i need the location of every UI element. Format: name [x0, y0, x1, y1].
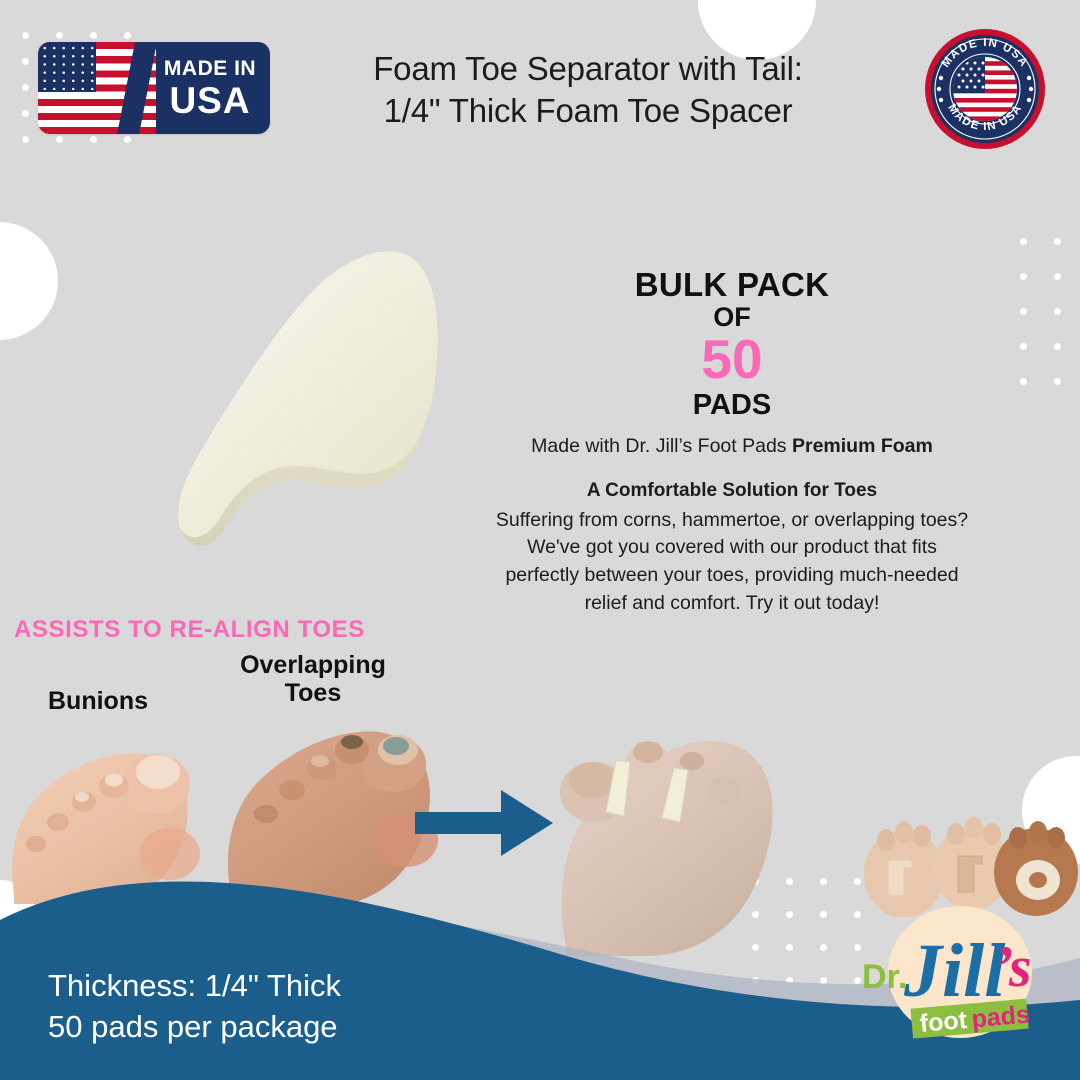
made-with-prefix: Made with Dr. Jill’s Foot Pads: [531, 435, 792, 457]
page-title-line2: 1/4" Thick Foam Toe Spacer: [282, 90, 894, 132]
label-bunions: Bunions: [48, 688, 148, 716]
made-with-line: Made with Dr. Jill’s Foot Pads Premium F…: [452, 435, 1012, 458]
bulk-line1: BULK PACK: [452, 268, 1012, 302]
flag-badge-line1: MADE IN: [164, 58, 256, 79]
info-column: BULK PACK OF 50 PADS Made with Dr. Jill’…: [452, 268, 1012, 617]
made-in-usa-seal-icon: MADE IN USA MADE IN USA: [924, 28, 1046, 150]
dot-grid-right: [1020, 238, 1080, 413]
realign-heading: ASSISTS TO RE-ALIGN TOES: [14, 616, 365, 644]
logo-jill-text: Jill: [903, 929, 1005, 1013]
description-line4: relief and comfort. Try it out today!: [452, 590, 1012, 618]
bulk-pack-callout: BULK PACK OF 50 PADS: [452, 268, 1012, 421]
us-flag-icon: [38, 42, 156, 134]
comfort-sub-heading: A Comfortable Solution for Toes: [452, 480, 1012, 502]
description-line3: perfectly between your toes, providing m…: [452, 562, 1012, 590]
description-line1: Suffering from corns, hammertoe, or over…: [452, 507, 1012, 535]
logo-pads-text: pads: [970, 1000, 1031, 1033]
logo-dr-text: Dr.: [862, 958, 907, 996]
dr-jills-foot-pads-logo: Dr. Jill ’s foot pads: [856, 900, 1056, 1065]
right-arrow-icon: [415, 786, 555, 860]
flag-badge-line2: USA: [169, 82, 250, 119]
description-line2: We've got you covered with our product t…: [452, 534, 1012, 562]
logo-apostrophe-s: ’s: [994, 934, 1032, 999]
bulk-line4: PADS: [452, 391, 1012, 421]
decorative-circle-left: [0, 222, 58, 340]
made-with-bold: Premium Foam: [792, 435, 933, 457]
made-in-usa-flag-badge: MADE IN USA: [38, 42, 270, 134]
logo-foot-text: foot: [919, 1006, 969, 1038]
bulk-line2: OF: [452, 304, 1012, 332]
label-overlapping-line1: Overlapping: [228, 652, 398, 680]
page-title: Foam Toe Separator with Tail: 1/4" Thick…: [282, 48, 894, 132]
banner-line1: Thickness: 1/4" Thick: [48, 966, 341, 1007]
bulk-count: 50: [452, 331, 1012, 389]
bottom-banner-text: Thickness: 1/4" Thick 50 pads per packag…: [48, 966, 341, 1048]
banner-line2: 50 pads per package: [48, 1007, 341, 1048]
infographic-canvas: MADE IN USA: [0, 0, 1080, 1080]
description-paragraph: Suffering from corns, hammertoe, or over…: [452, 507, 1012, 618]
header: MADE IN USA: [0, 0, 1080, 180]
page-title-line1: Foam Toe Separator with Tail:: [282, 48, 894, 90]
product-photo-foam-spacer: [150, 228, 450, 550]
